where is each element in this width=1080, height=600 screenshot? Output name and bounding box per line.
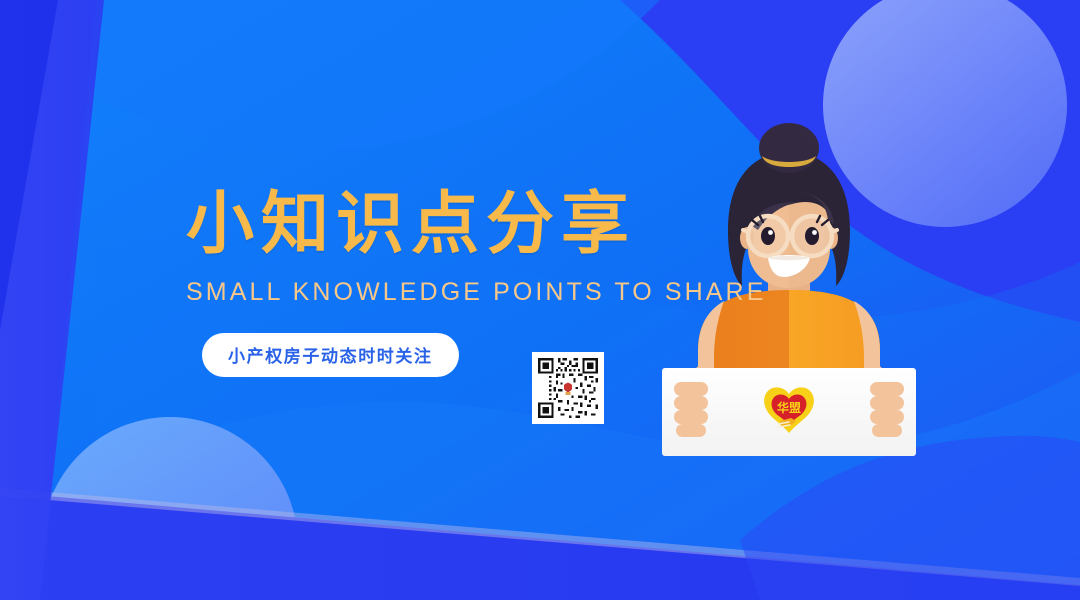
logo-text: 华盟 — [777, 400, 801, 415]
eye-left — [761, 227, 775, 245]
eye-left-glint — [768, 230, 773, 235]
tag-button[interactable]: 小产权房子动态时时关注 — [202, 333, 459, 377]
eye-right-glint — [812, 230, 817, 235]
qr-code[interactable] — [532, 352, 604, 424]
hand-right — [870, 382, 904, 437]
page-title: 小知识点分享 — [186, 186, 656, 262]
eye-right — [805, 227, 819, 245]
promo-banner: 小知识点分享 SMALL KNOWLEDGE POINTS TO SHARE 小… — [0, 0, 1080, 600]
qr-code-icon — [536, 356, 600, 420]
headline-block: 小知识点分享 SMALL KNOWLEDGE POINTS TO SHARE 小… — [186, 186, 656, 377]
hand-left — [674, 382, 708, 437]
page-subtitle: SMALL KNOWLEDGE POINTS TO SHARE — [186, 278, 656, 307]
